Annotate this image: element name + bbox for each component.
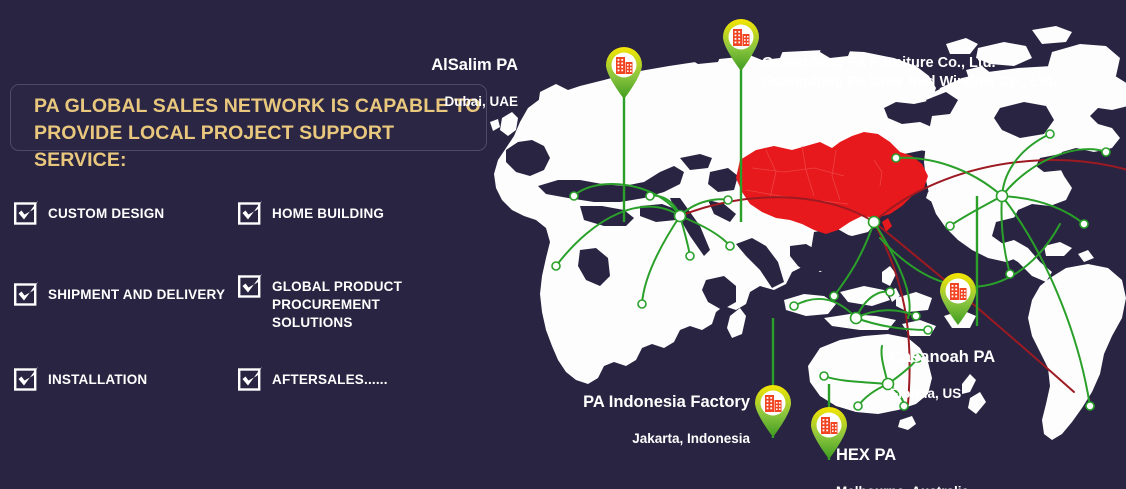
checkbox-checked-icon <box>14 201 38 225</box>
checklist-item-label: SHIPMENT AND DELIVERY <box>48 281 225 304</box>
map-pin-guangdong[interactable] <box>721 18 761 72</box>
map-pin-alsalim[interactable] <box>604 46 644 100</box>
map-label-hex: HEX PA Melbourne, Australia <box>836 427 1036 489</box>
site-location: Dubai, UAE <box>420 93 518 111</box>
checklist-item-label: AFTERSALES...... <box>272 366 388 389</box>
checkbox-checked-icon <box>14 367 38 391</box>
checklist-item-global-product-procurement-solutions: GLOBAL PRODUCT PROCUREMENT SOLUTIONS <box>238 273 488 332</box>
site-name: AlSalim PA <box>420 55 518 75</box>
checklist-item-home-building: HOME BUILDING <box>238 200 488 225</box>
checklist-item-label: GLOBAL PRODUCT PROCUREMENT SOLUTIONS <box>272 273 488 332</box>
site-name: Casanoah PA <box>890 347 1100 367</box>
checkbox-checked-icon <box>14 282 38 306</box>
checklist-item-aftersales: AFTERSALES...... <box>238 366 488 391</box>
site-name: Guangdong PA Furniture Co., Ltd. Guangdo… <box>762 54 1092 92</box>
site-name: PA Indonesia Factory <box>505 392 750 412</box>
checkbox-checked-icon <box>238 201 262 225</box>
map-pin-indonesia[interactable] <box>753 384 793 438</box>
map-label-guangdong: Guangdong PA Furniture Co., Ltd. Guangdo… <box>762 36 1092 110</box>
site-name: HEX PA <box>836 445 1036 465</box>
site-location: Melbourne, Australia <box>836 483 1036 489</box>
checklist-item-label: INSTALLATION <box>48 366 147 389</box>
page-title: PA GLOBAL SALES NETWORK IS CAPABLE TO PR… <box>34 93 484 174</box>
map-pin-casanoah[interactable] <box>938 272 978 326</box>
site-location: Jakarta, Indonesia <box>505 430 750 448</box>
checklist-item-label: HOME BUILDING <box>272 200 384 223</box>
map-label-alsalim: AlSalim PA Dubai, UAE <box>420 37 518 129</box>
checkbox-checked-icon <box>238 274 262 298</box>
site-location: Florida, US <box>890 385 1100 403</box>
map-label-casanoah: Casanoah PA Florida, US <box>890 329 1100 421</box>
checklist-item-installation: INSTALLATION <box>14 366 234 391</box>
checklist-item-custom-design: CUSTOM DESIGN <box>14 200 234 225</box>
checkbox-checked-icon <box>238 367 262 391</box>
checklist-item-label: CUSTOM DESIGN <box>48 200 164 223</box>
checklist-item-shipment-and-delivery: SHIPMENT AND DELIVERY <box>14 281 234 306</box>
sales-network-infographic: PA GLOBAL SALES NETWORK IS CAPABLE TO PR… <box>0 0 1126 489</box>
map-label-indonesia: PA Indonesia Factory Jakarta, Indonesia <box>505 374 750 466</box>
